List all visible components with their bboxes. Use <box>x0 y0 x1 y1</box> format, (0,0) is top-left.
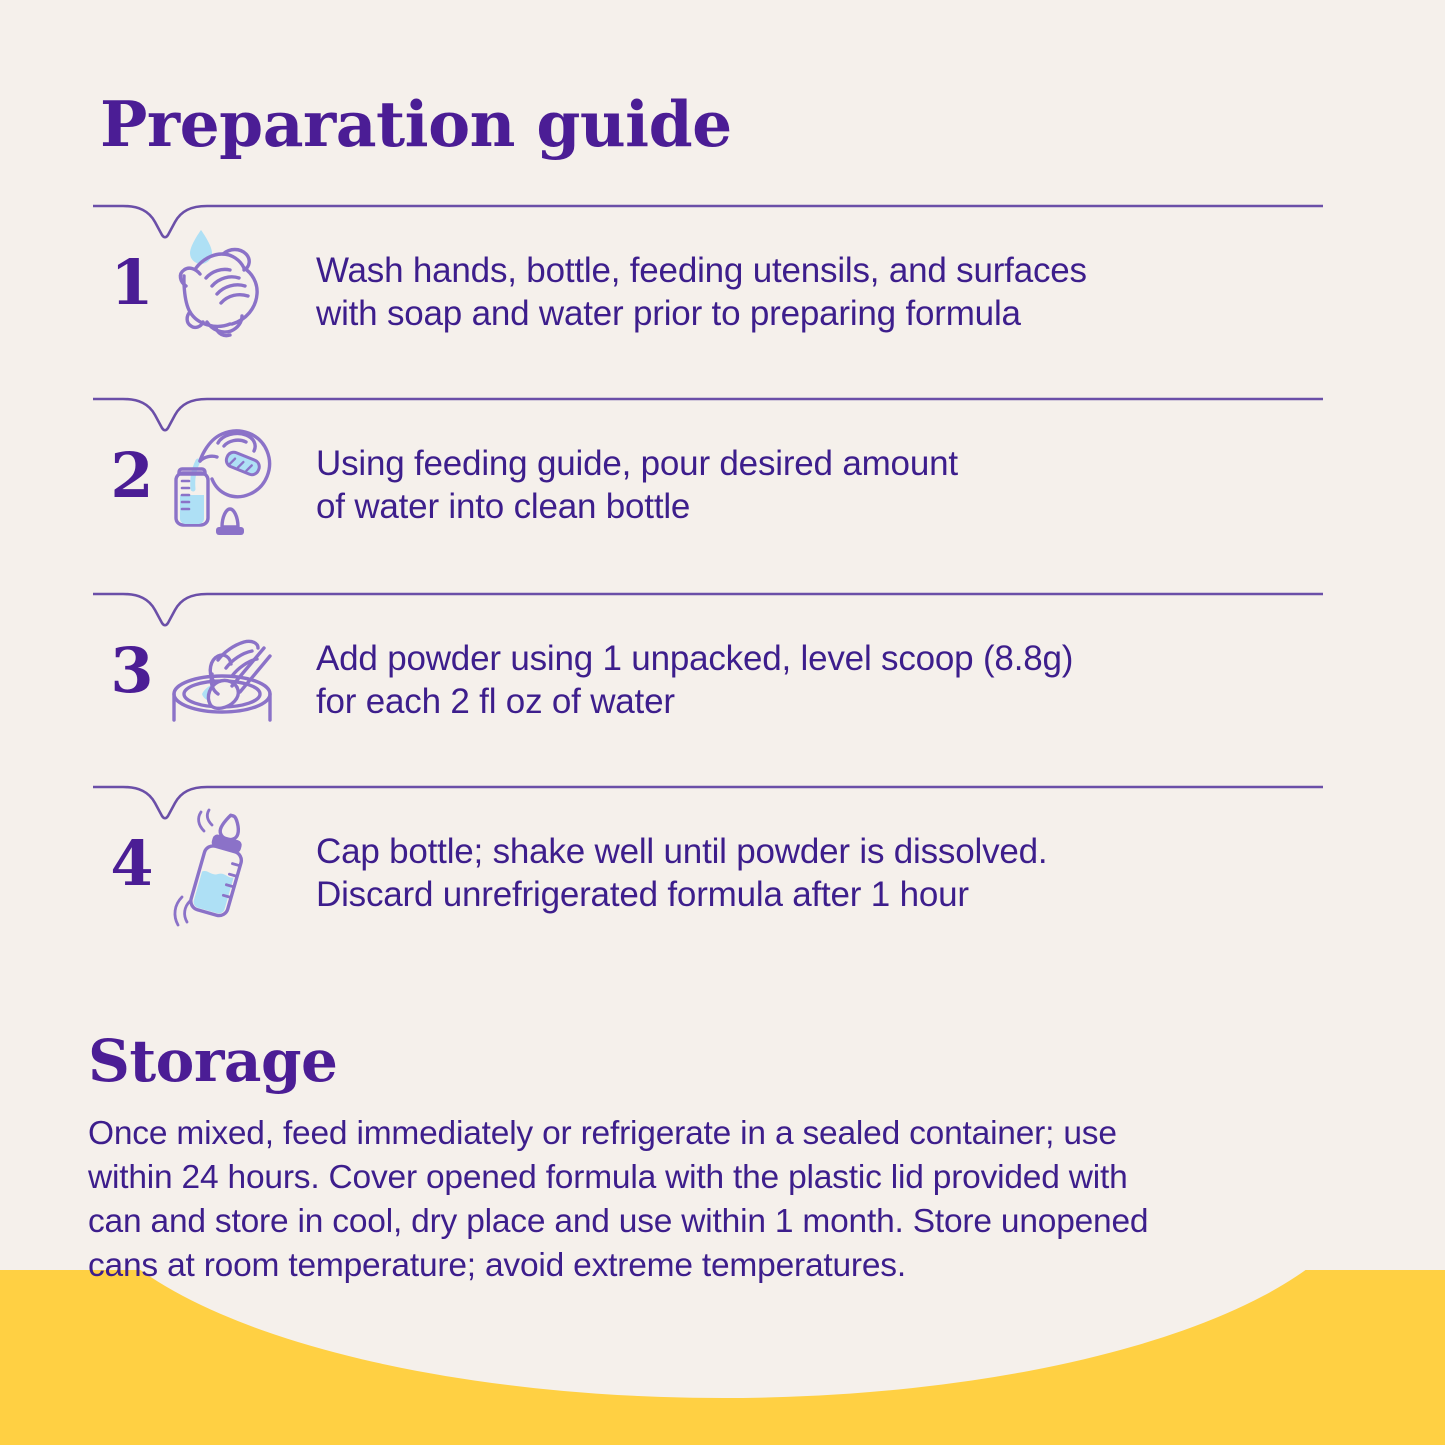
step-text: Cap bottle; shake well until powder is d… <box>316 831 1326 916</box>
step-text-line: with soap and water prior to preparing f… <box>316 293 1326 336</box>
step-number: 1 <box>96 252 168 314</box>
kettle-pouring-bottle-icon <box>160 417 290 547</box>
step-text-line: Cap bottle; shake well until powder is d… <box>316 831 1326 874</box>
storage-body-line: within 24 hours. Cover opened formula wi… <box>88 1156 1328 1200</box>
storage-section: Storage Once mixed, feed immediately or … <box>88 1032 1328 1288</box>
shaking-bottle-icon <box>160 805 290 935</box>
washing-hands-icon <box>160 224 290 354</box>
step-text: Add powder using 1 unpacked, level scoop… <box>316 638 1326 723</box>
storage-body: Once mixed, feed immediately or refriger… <box>88 1112 1328 1288</box>
page-title: Preparation guide <box>100 93 732 156</box>
storage-body-line: cans at room temperature; avoid extreme … <box>88 1244 1328 1288</box>
step-text: Using feeding guide, pour desired amount… <box>316 443 1326 528</box>
step-number: 4 <box>96 833 168 895</box>
step-text-line: Discard unrefrigerated formula after 1 h… <box>316 874 1326 917</box>
step-text-line: for each 2 fl oz of water <box>316 681 1326 724</box>
step-number: 2 <box>96 445 168 507</box>
step-number: 3 <box>96 640 168 702</box>
step-text-line: Add powder using 1 unpacked, level scoop… <box>316 638 1326 681</box>
scoop-powder-can-icon <box>160 612 290 742</box>
step-text: Wash hands, bottle, feeding utensils, an… <box>316 250 1326 335</box>
step-row: 4 <box>0 783 1445 976</box>
step-text-line: of water into clean bottle <box>316 486 1326 529</box>
storage-body-line: can and store in cool, dry place and use… <box>88 1200 1328 1244</box>
step-row: 2 <box>0 395 1445 588</box>
step-text-line: Using feeding guide, pour desired amount <box>316 443 1326 486</box>
step-row: 3 <box>0 590 1445 783</box>
step-row: 1 <box>0 202 1445 395</box>
step-text-line: Wash hands, bottle, feeding utensils, an… <box>316 250 1326 293</box>
storage-title: Storage <box>88 1032 1328 1090</box>
storage-body-line: Once mixed, feed immediately or refriger… <box>88 1112 1328 1156</box>
